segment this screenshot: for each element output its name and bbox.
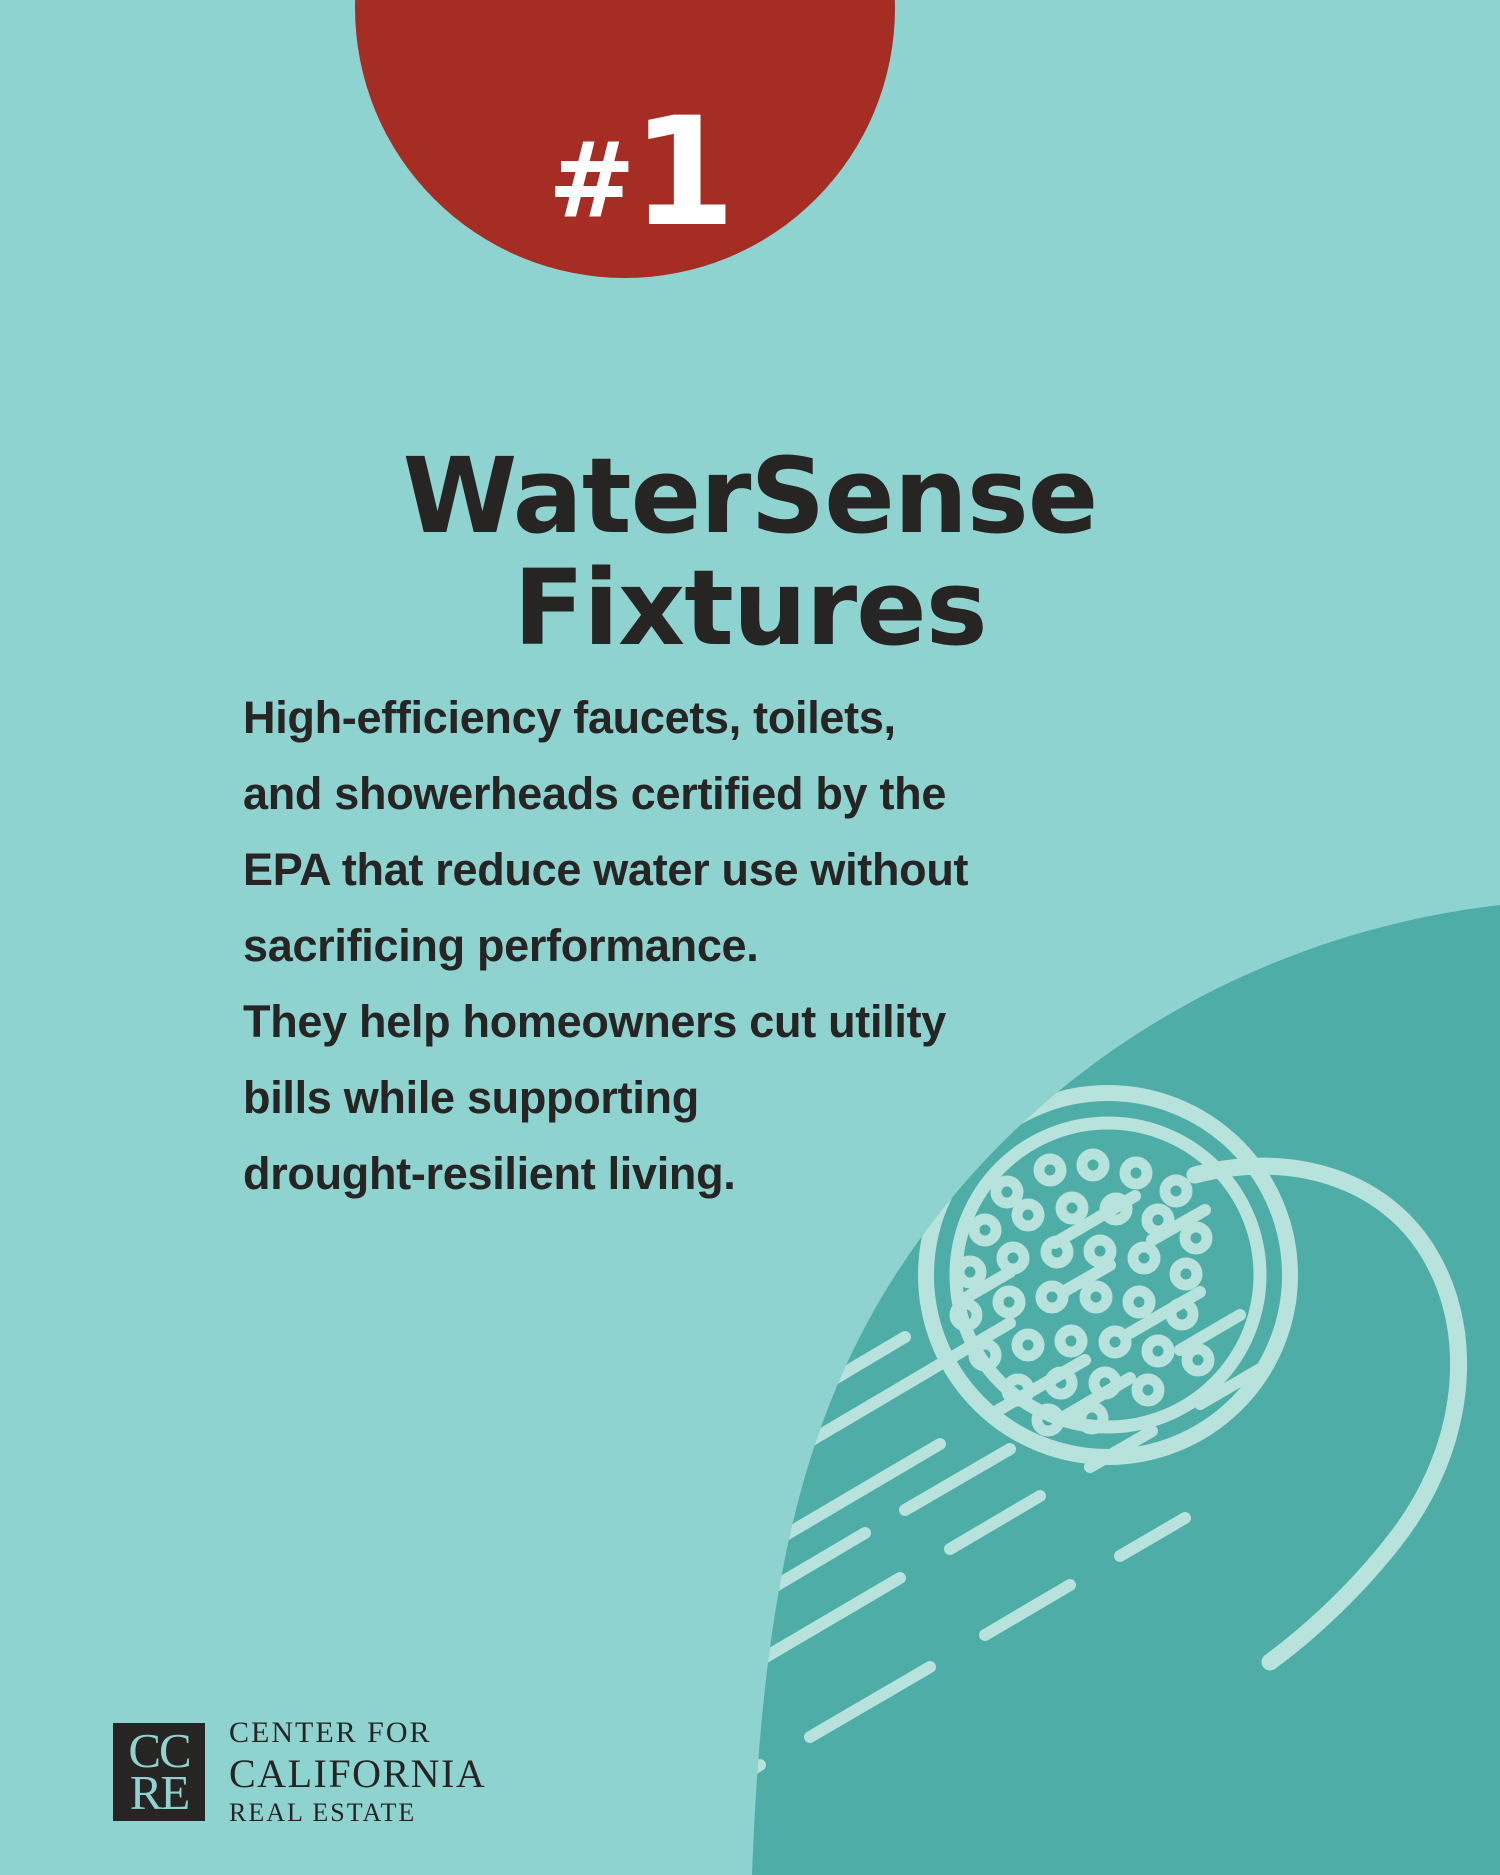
rank-badge: #1 bbox=[355, 0, 895, 278]
ccre-logo-mark: CC RE bbox=[113, 1723, 205, 1821]
body-line: sacrificing performance. bbox=[243, 908, 1043, 984]
rank-number: 1 bbox=[631, 86, 733, 260]
hash-symbol: # bbox=[548, 120, 631, 242]
page-title-line-1: WaterSense bbox=[0, 440, 1500, 552]
body-line: High-efficiency faucets, toilets, bbox=[243, 680, 1043, 756]
body-line: They help homeowners cut utility bbox=[243, 984, 1043, 1060]
body-paragraph: High-efficiency faucets, toilets, and sh… bbox=[243, 680, 1043, 1212]
body-line: EPA that reduce water use without bbox=[243, 832, 1043, 908]
poster-canvas: #1 WaterSense Fixtures High-efficiency f… bbox=[0, 0, 1500, 1875]
rank-badge-label: #1 bbox=[548, 98, 734, 278]
ccre-wordmark-line-3: REAL ESTATE bbox=[229, 1798, 486, 1829]
ccre-wordmark-line-2: CALIFORNIA bbox=[229, 1750, 486, 1797]
spray-lines bbox=[620, 1196, 1262, 1800]
shower-handle bbox=[1195, 1166, 1459, 1662]
ccre-logo-mark-bottom: RE bbox=[130, 1772, 189, 1813]
body-line: drought-resilient living. bbox=[243, 1136, 1043, 1212]
page-title: WaterSense Fixtures bbox=[0, 440, 1500, 665]
body-line: and showerheads certified by the bbox=[243, 756, 1043, 832]
shower-handle-inner bbox=[1178, 1197, 1417, 1638]
ccre-wordmark-line-1: CENTER FOR bbox=[229, 1715, 486, 1750]
body-line: bills while supporting bbox=[243, 1060, 1043, 1136]
ccre-logo: CC RE CENTER FOR CALIFORNIA REAL ESTATE bbox=[113, 1715, 486, 1828]
ccre-logo-wordmark: CENTER FOR CALIFORNIA REAL ESTATE bbox=[229, 1715, 486, 1828]
page-title-line-2: Fixtures bbox=[0, 552, 1500, 664]
